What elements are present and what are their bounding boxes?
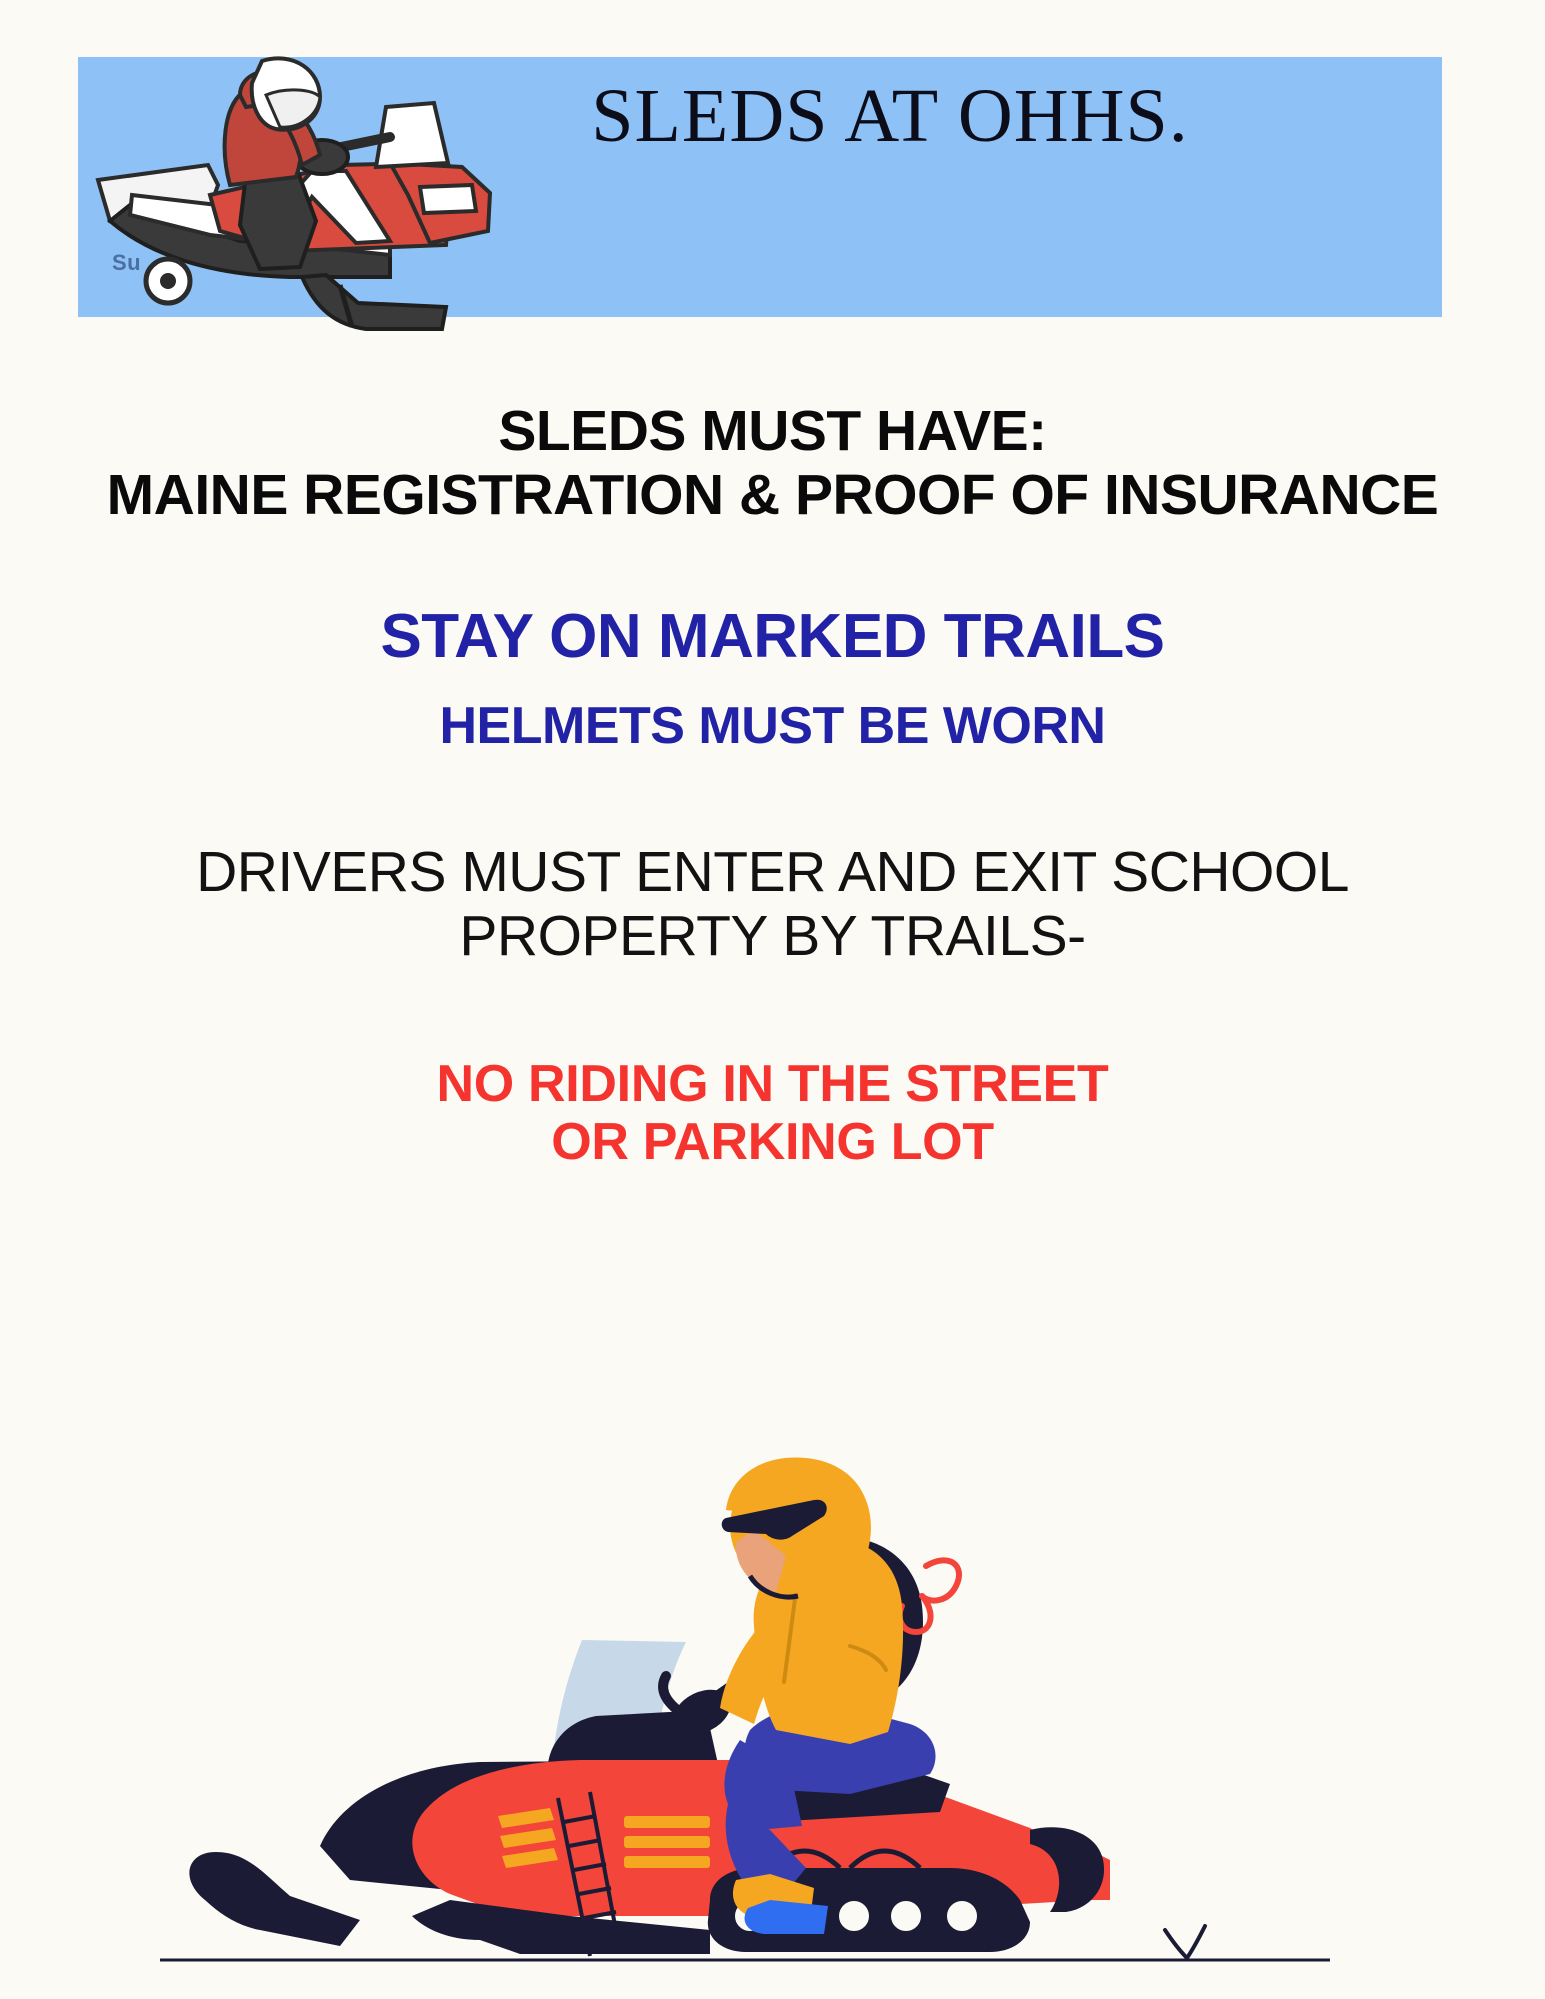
- blue-line-1: STAY ON MARKED TRAILS: [0, 602, 1545, 671]
- blue-line-2: HELMETS MUST BE WORN: [0, 697, 1545, 755]
- spacer-2: [0, 671, 1545, 697]
- spacer-1: [0, 528, 1545, 602]
- heading-line-2: MAINE REGISTRATION & PROOF OF INSURANCE: [0, 464, 1545, 528]
- spacer-4: [0, 969, 1545, 1055]
- heading-line-1: SLEDS MUST HAVE:: [0, 400, 1545, 464]
- page-title: SLEDS AT OHHS.: [420, 78, 1360, 154]
- red-line-2: OR PARKING LOT: [0, 1113, 1545, 1171]
- spacer-3: [0, 755, 1545, 841]
- plain-line-1: DRIVERS MUST ENTER AND EXIT SCHOOL: [0, 841, 1545, 905]
- snowmobile-illustration: [150, 1360, 1400, 1990]
- red-line-1: NO RIDING IN THE STREET: [0, 1055, 1545, 1113]
- plain-line-2: PROPERTY BY TRAILS-: [0, 905, 1545, 969]
- poster-text-block: SLEDS MUST HAVE: MAINE REGISTRATION & PR…: [0, 400, 1545, 1171]
- poster-canvas: Su SLEDS AT OHHS. SLEDS MUST HAVE: MAINE…: [0, 0, 1545, 1999]
- clipart-watermark-text: Su: [112, 250, 141, 276]
